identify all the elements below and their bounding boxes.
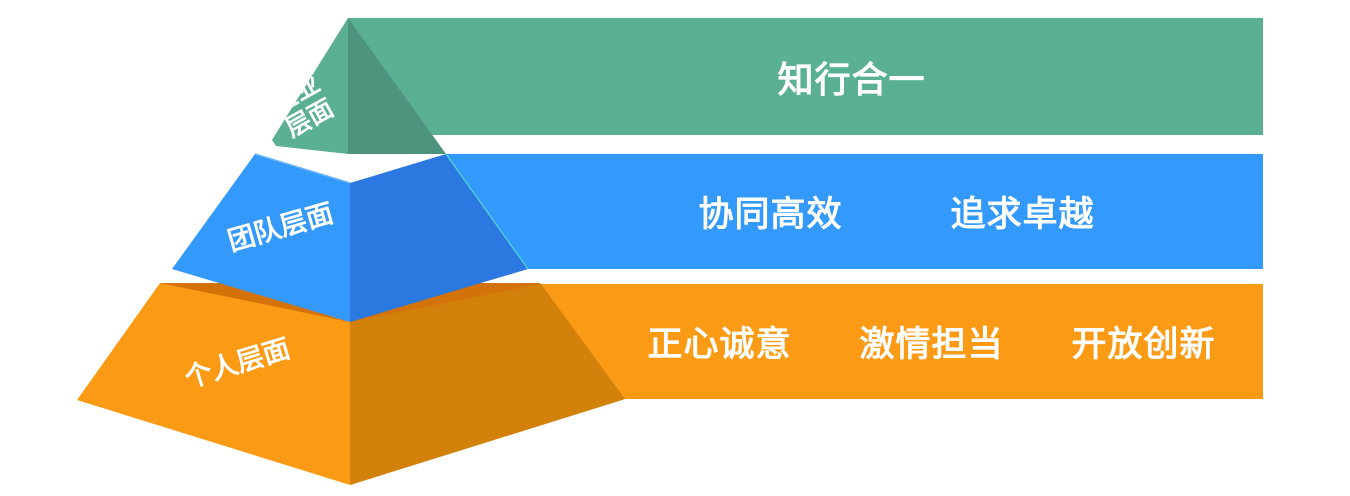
pyramid-diagram: 企业 层面 团队层面 个人层面 知行合一 协同高效 追求卓越 正心诚意 激情担当…	[0, 0, 1350, 496]
pyramid-graphic: 企业 层面 团队层面 个人层面	[0, 0, 1350, 496]
banner-individual	[540, 284, 1263, 399]
banner-team	[446, 154, 1263, 269]
banner-enterprise	[348, 18, 1263, 135]
